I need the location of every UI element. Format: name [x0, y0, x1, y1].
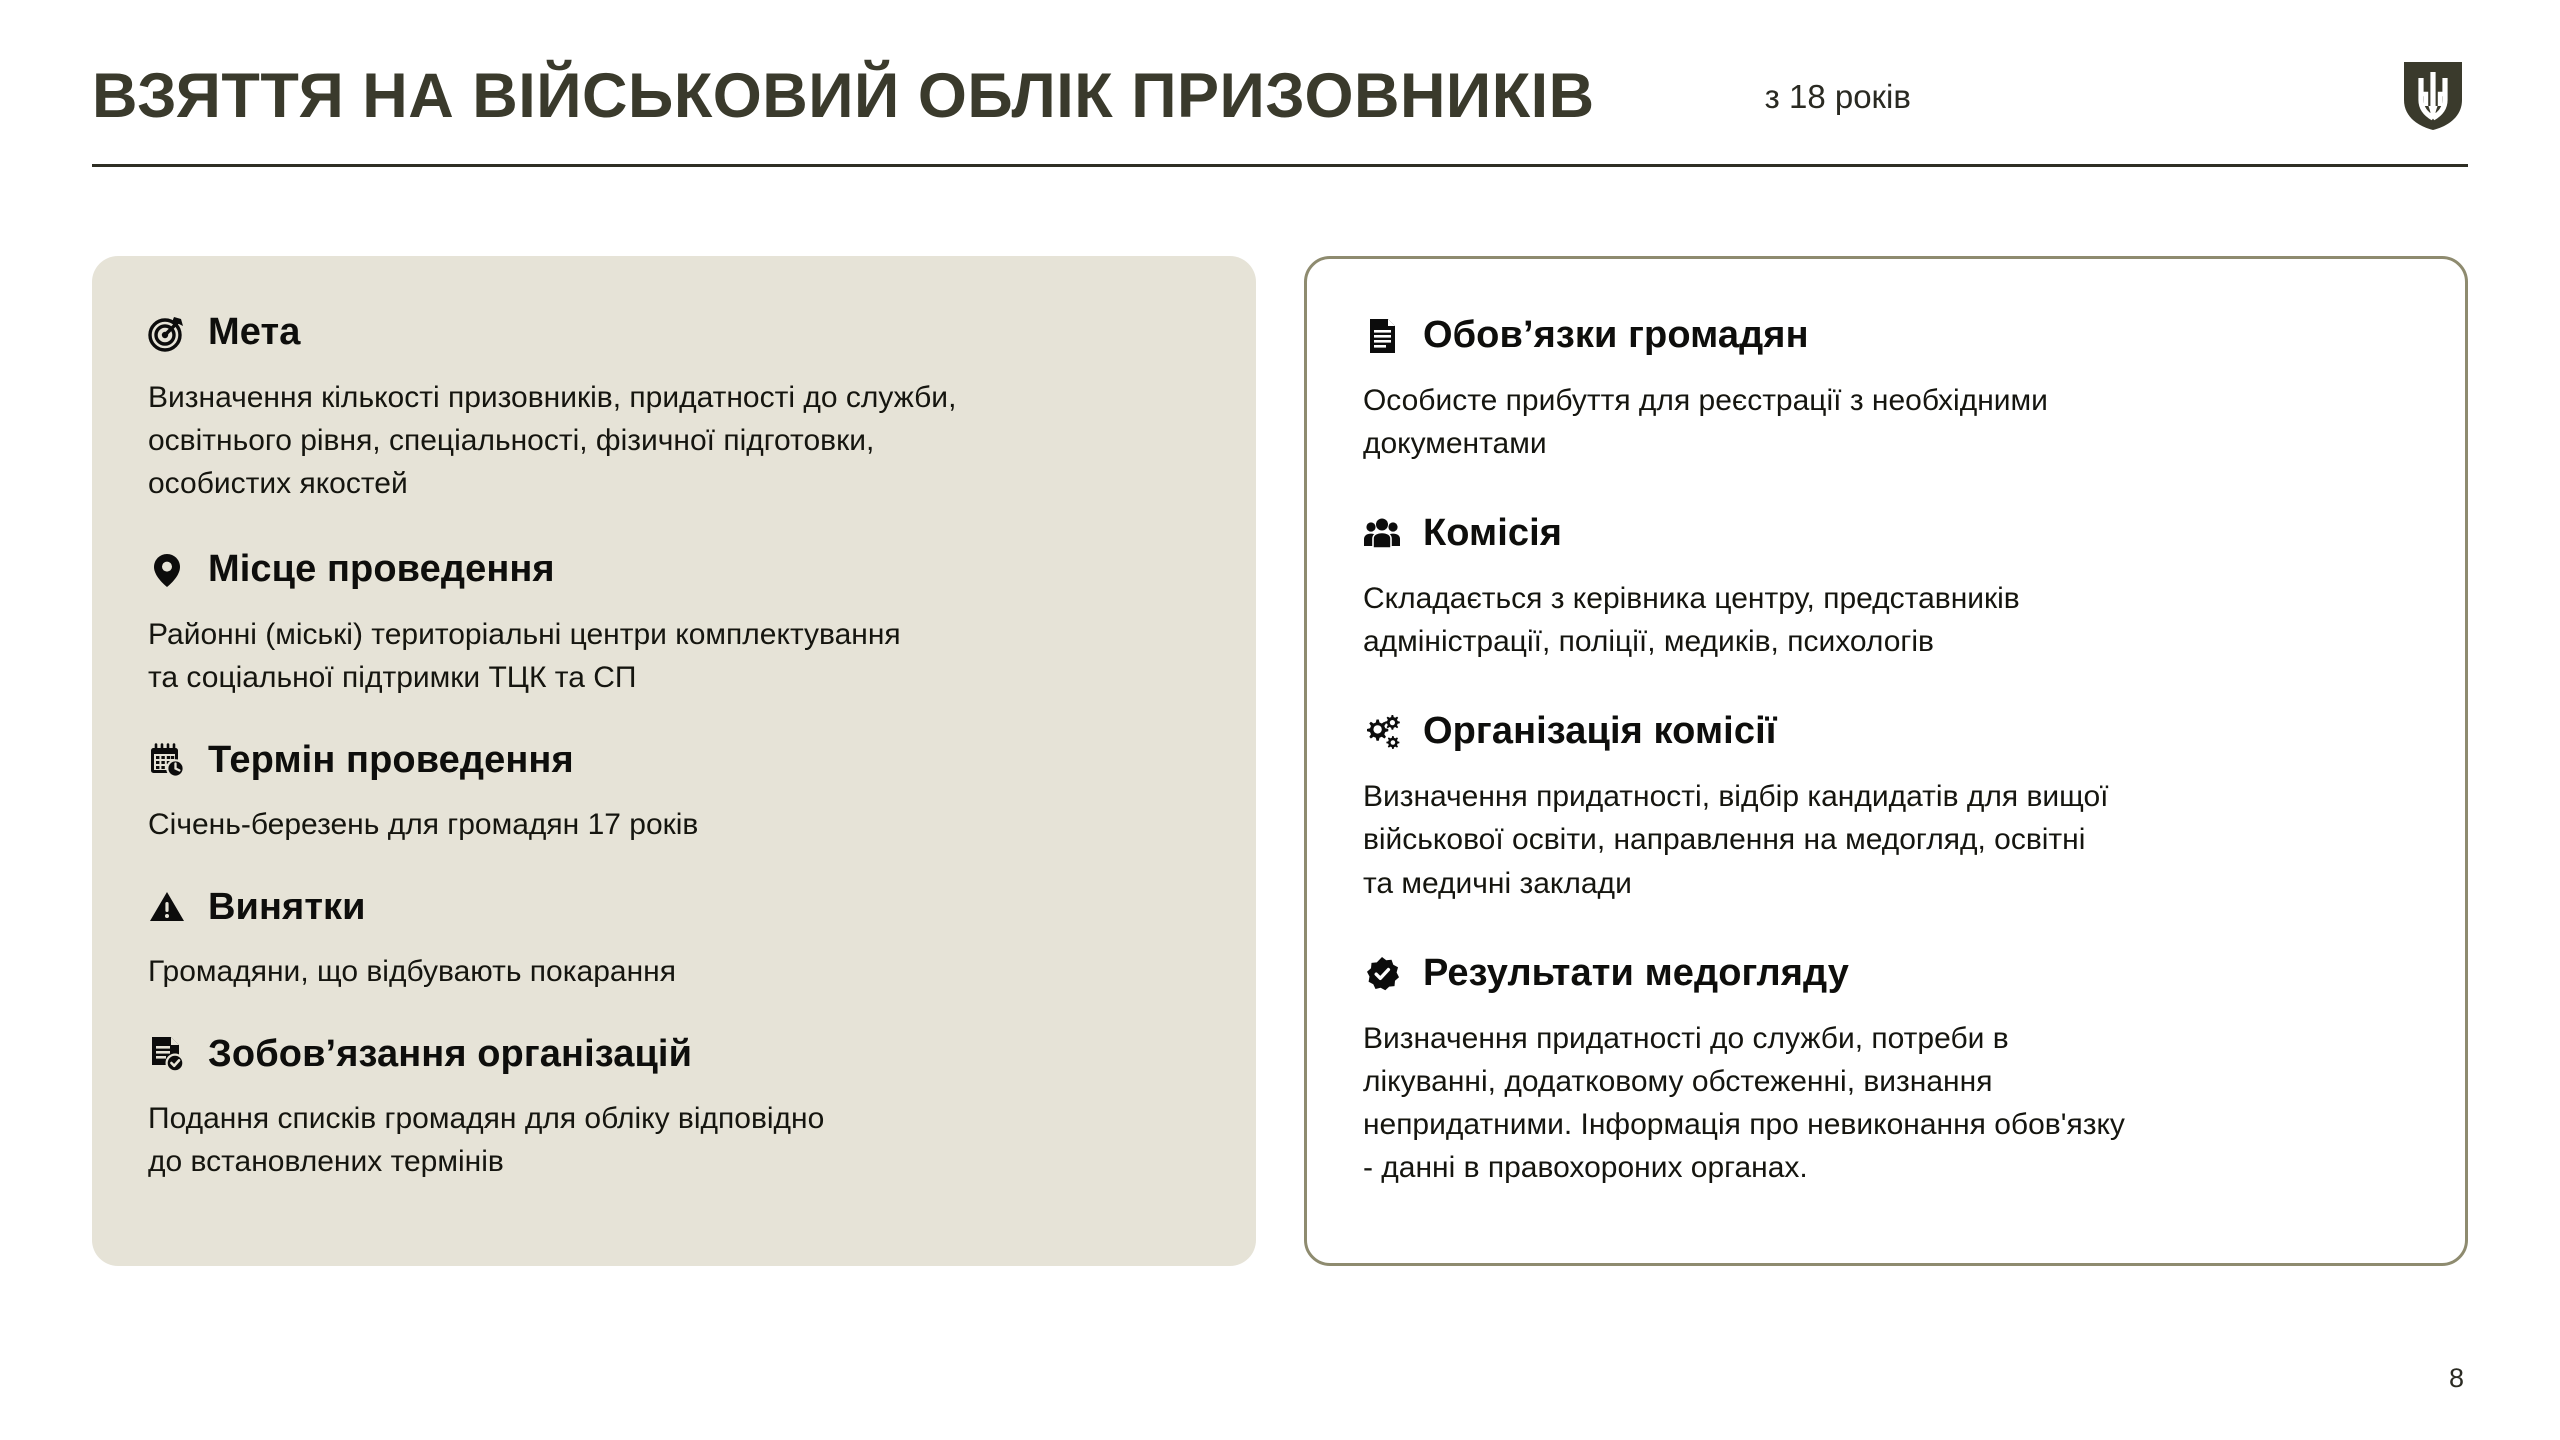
page-title: ВЗЯТТЯ НА ВІЙСЬКОВИЙ ОБЛІК ПРИЗОВНИКІВ — [92, 65, 1595, 128]
section-header: Місце проведення — [148, 549, 1200, 591]
section-header: Термін проведення — [148, 740, 1200, 782]
header-subtitle: з 18 років — [1765, 80, 1911, 113]
section-title: Місце проведення — [208, 549, 555, 591]
section-title: Організація комісії — [1423, 711, 1777, 753]
section-body: Визначення придатності, відбір кандидаті… — [1363, 775, 2409, 905]
section-body: Січень-березень для громадян 17 років — [148, 803, 1200, 846]
section-citizen-duties: Обов’язки громадян Особисте прибуття для… — [1363, 315, 2409, 465]
section-body: Громадяни, що відбувають покарання — [148, 950, 1200, 993]
section-body: Особисте прибуття для реєстрації з необх… — [1363, 379, 2409, 465]
section-header: Зобов’язання організацій — [148, 1034, 1200, 1076]
section-header: Обов’язки громадян — [1363, 315, 2409, 357]
page-number: 8 — [2449, 1365, 2464, 1392]
section-body: Складається з керівника центру, представ… — [1363, 577, 2409, 663]
section-meta: Мета Визначення кількості призовників, п… — [148, 312, 1200, 505]
document-check-icon — [148, 1035, 186, 1073]
left-info-card: Мета Визначення кількості призовників, п… — [92, 256, 1256, 1266]
slide-header: ВЗЯТТЯ НА ВІЙСЬКОВИЙ ОБЛІК ПРИЗОВНИКІВ з… — [92, 0, 2468, 170]
section-header: Комісія — [1363, 513, 2409, 555]
people-group-icon — [1363, 515, 1401, 553]
section-commission-organization: Організація комісії Визначення придатнос… — [1363, 711, 2409, 904]
section-location: Місце проведення Районні (міські) терито… — [148, 549, 1200, 699]
calendar-clock-icon — [148, 741, 186, 779]
slide: ВЗЯТТЯ НА ВІЙСЬКОВИЙ ОБЛІК ПРИЗОВНИКІВ з… — [0, 0, 2560, 1440]
section-commission: Комісія Складається з керівника центру, … — [1363, 513, 2409, 663]
section-exceptions: Винятки Громадяни, що відбувають покаран… — [148, 887, 1200, 994]
section-header: Організація комісії — [1363, 711, 2409, 753]
section-title: Обов’язки громадян — [1423, 315, 1809, 357]
section-body: Районні (міські) територіальні центри ко… — [148, 613, 1200, 699]
section-body: Визначення придатності до служби, потреб… — [1363, 1017, 2409, 1190]
section-title: Термін проведення — [208, 740, 574, 782]
location-pin-icon — [148, 551, 186, 589]
target-arrow-icon — [148, 314, 186, 352]
gears-icon — [1363, 713, 1401, 751]
section-header: Мета — [148, 312, 1200, 354]
section-term: Термін проведення Січень-березень для гр… — [148, 740, 1200, 847]
section-body: Подання списків громадян для обліку відп… — [148, 1097, 1200, 1183]
right-info-card: Обов’язки громадян Особисте прибуття для… — [1304, 256, 2468, 1266]
section-header: Винятки — [148, 887, 1200, 929]
section-obligations: Зобов’язання організацій Подання списків… — [148, 1034, 1200, 1184]
section-header: Результати медогляду — [1363, 953, 2409, 995]
section-title: Мета — [208, 312, 300, 354]
section-title: Результати медогляду — [1423, 953, 1849, 995]
ukraine-trident-shield-icon — [2402, 60, 2464, 132]
document-lines-icon — [1363, 317, 1401, 355]
verified-badge-icon — [1363, 955, 1401, 993]
section-title: Комісія — [1423, 513, 1562, 555]
content-columns: Мета Визначення кількості призовників, п… — [92, 256, 2468, 1266]
section-body: Визначення кількості призовників, придат… — [148, 376, 1200, 506]
section-title: Зобов’язання організацій — [208, 1034, 692, 1076]
section-title: Винятки — [208, 887, 366, 929]
section-medical-results: Результати медогляду Визначення придатно… — [1363, 953, 2409, 1190]
header-divider — [92, 164, 2468, 167]
warning-triangle-icon — [148, 888, 186, 926]
